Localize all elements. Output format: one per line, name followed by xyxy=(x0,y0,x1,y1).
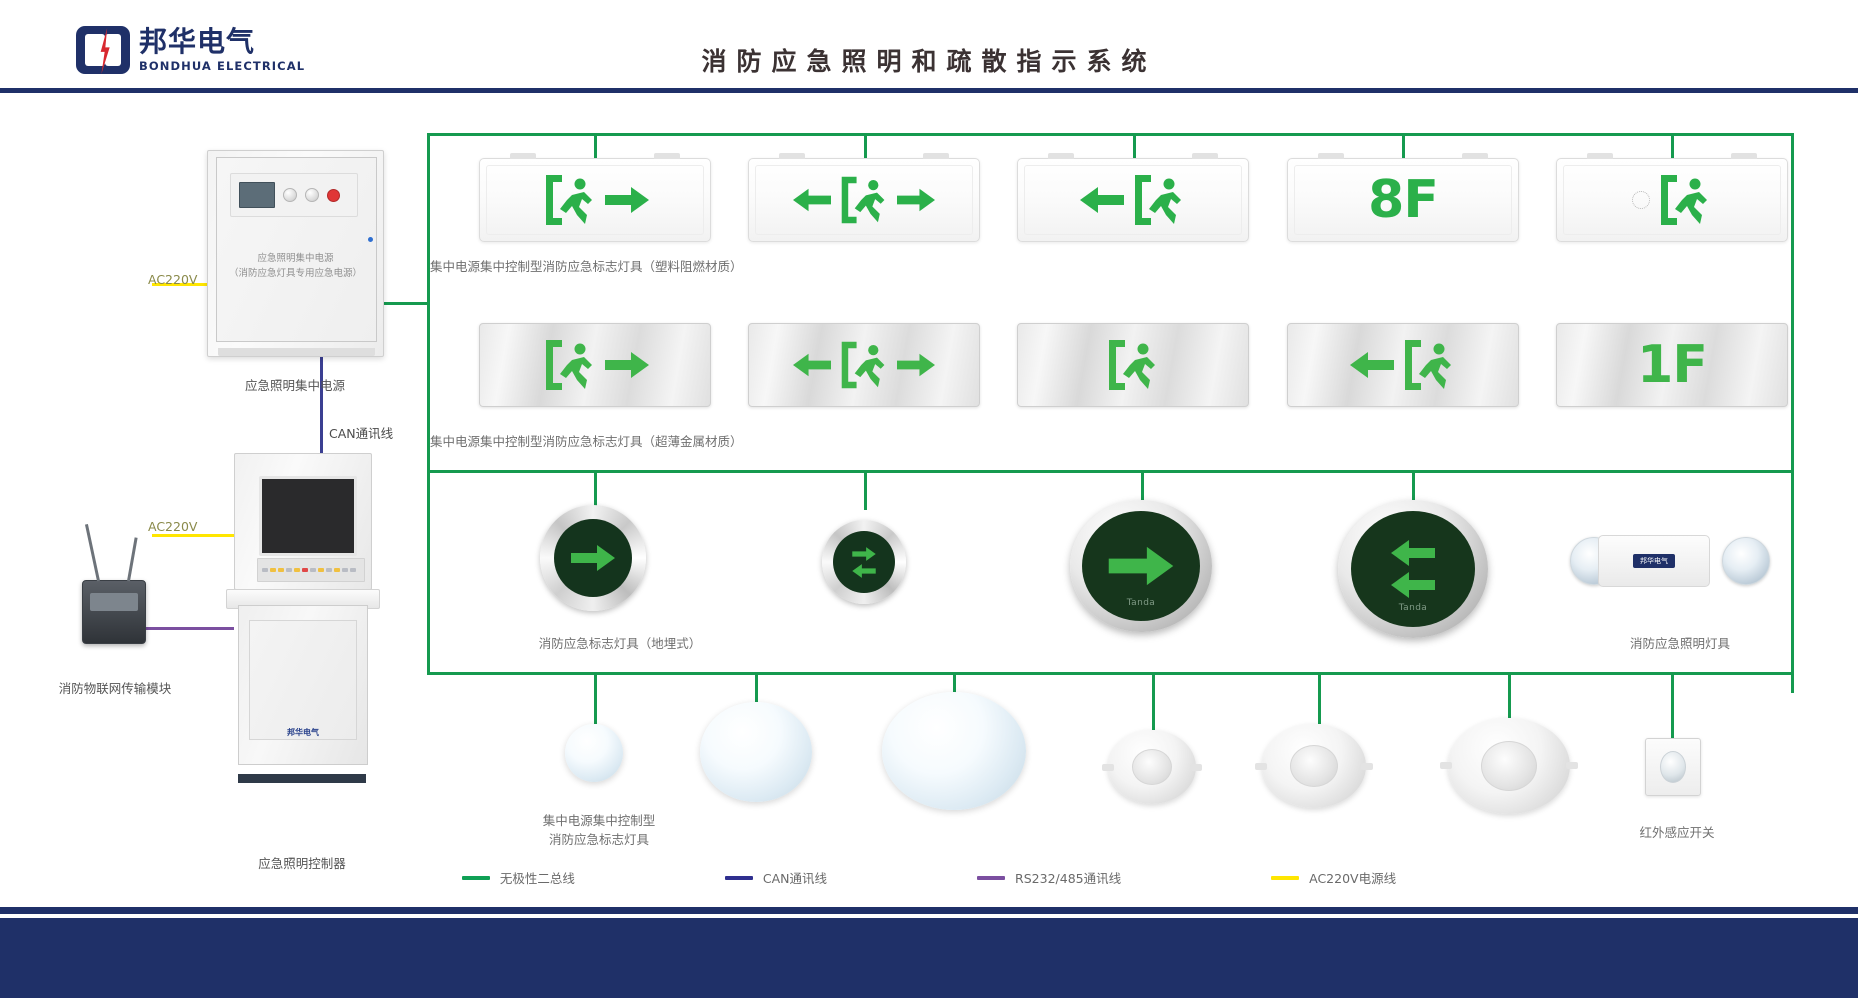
bus-wire-cabinet-out xyxy=(382,302,430,305)
arrow-right-icon xyxy=(569,543,617,573)
controller-screen xyxy=(259,476,357,556)
large-dome-lamp[interactable] xyxy=(882,692,1026,810)
header-divider xyxy=(0,88,1858,93)
legend-label-can: CAN通讯线 xyxy=(763,868,827,887)
legend-swatch-bus xyxy=(462,876,490,880)
bus-wire-riser-left3 xyxy=(427,470,430,674)
twin-head-emergency-light[interactable]: 邦华电气 xyxy=(1570,525,1770,597)
can-wire-label: CAN通讯线 xyxy=(329,423,393,442)
lamp-brand-label: Tanda xyxy=(1127,598,1155,608)
arrow-right-icon xyxy=(846,546,882,562)
bus-wire-row4 xyxy=(427,672,1794,675)
legend-label-rs: RS232/485通讯线 xyxy=(1015,868,1121,887)
legend-swatch-ac xyxy=(1271,876,1299,880)
controller-keypad[interactable] xyxy=(257,558,365,582)
drop-r4-1 xyxy=(594,672,597,724)
metal-exit-sign-both[interactable] xyxy=(748,323,980,407)
bus-wire-row3 xyxy=(427,470,1794,473)
metal-floor-indicator-1f[interactable]: 1F xyxy=(1556,323,1788,407)
legend-swatch-can xyxy=(725,876,753,880)
cabinet-face-text: 应急照明集中电源 （消防应急灯具专用应急电源） xyxy=(208,251,383,281)
running-man-icon xyxy=(1105,338,1161,392)
cabinet-status-dot xyxy=(368,237,373,242)
drop-r3-2 xyxy=(864,470,867,510)
arrow-right-icon xyxy=(1101,544,1181,588)
legend-label-bus: 无极性二总线 xyxy=(500,868,575,887)
drop-r1-5 xyxy=(1671,133,1674,158)
metal-exit-sign-left[interactable] xyxy=(1287,323,1519,407)
infrared-sensor-switch[interactable] xyxy=(1645,738,1701,796)
lamp-head-right xyxy=(1722,537,1770,585)
cabinet-knob-2[interactable] xyxy=(305,188,319,202)
drop-r3-4 xyxy=(1412,470,1415,500)
medium-dome-lamp[interactable] xyxy=(700,702,812,802)
exit-sign-left[interactable] xyxy=(1017,158,1249,242)
ac-wire-controller xyxy=(152,534,234,537)
can-wire xyxy=(320,355,323,453)
twin-light-brand-badge: 邦华电气 xyxy=(1633,554,1675,568)
legend-item-rs: RS232/485通讯线 xyxy=(977,868,1121,887)
bus-wire-row1 xyxy=(427,133,1794,136)
controller-brand-mini: 邦华电气 xyxy=(239,727,367,738)
fire-iot-transmission-module[interactable] xyxy=(82,580,146,644)
legend-item-ac: AC220V电源线 xyxy=(1271,868,1396,887)
exit-sign-both[interactable] xyxy=(748,158,980,242)
row4-caption-line1: 集中电源集中控制型 xyxy=(494,812,704,831)
legend-item-can: CAN通讯线 xyxy=(725,868,827,887)
bus-wire-riser-right xyxy=(1791,133,1794,693)
drop-r4-6 xyxy=(1508,672,1511,718)
floor-indicator-8f[interactable]: 8F xyxy=(1287,158,1519,242)
legend-item-bus: 无极性二总线 xyxy=(462,868,575,887)
footer-bar xyxy=(0,918,1858,998)
ground-lamp-double-arrow[interactable] xyxy=(822,520,906,604)
ground-lamp-right-arrow[interactable] xyxy=(540,505,646,611)
legend-swatch-rs xyxy=(977,876,1005,880)
cabinet-face-line1: 应急照明集中电源 xyxy=(208,251,383,266)
row3-caption: 消防应急标志灯具（地埋式） xyxy=(480,635,760,654)
page-header: 邦华电气 BONDHUA ELECTRICAL 消防应急照明和疏散指示系统 xyxy=(0,0,1858,92)
antenna-icon-2 xyxy=(127,537,138,581)
row3-right-caption: 消防应急照明灯具 xyxy=(1570,635,1790,654)
downlight-large[interactable] xyxy=(1448,718,1570,814)
downlight-small[interactable] xyxy=(1108,730,1196,804)
emergency-lighting-controller[interactable]: 邦华电气 xyxy=(226,453,378,783)
drop-r4-5 xyxy=(1318,672,1321,724)
arrow-left-icon xyxy=(846,563,882,579)
power-cabinet-caption: 应急照明集中电源 xyxy=(195,377,395,396)
ceiling-lamp-left-double[interactable]: Tanda xyxy=(1338,500,1488,638)
row1-caption: 集中电源集中控制型消防应急标志灯具（塑料阻燃材质） xyxy=(430,258,890,277)
arrow-right-icon xyxy=(605,350,649,380)
floor-number-label: 1F xyxy=(1637,335,1707,395)
cabinet-control-panel[interactable] xyxy=(230,173,358,217)
exit-sign-plain[interactable] xyxy=(1556,158,1788,242)
legend-label-ac: AC220V电源线 xyxy=(1309,868,1396,887)
drop-r4-4 xyxy=(1152,672,1155,730)
ac-label-controller: AC220V xyxy=(148,519,197,534)
arrow-left-icon-2 xyxy=(1375,570,1451,600)
row4-caption-line2: 消防应急标志灯具 xyxy=(494,831,704,850)
cabinet-face-line2: （消防应急灯具专用应急电源） xyxy=(208,266,383,281)
system-diagram-page: 邦华电气 BONDHUA ELECTRICAL 消防应急照明和疏散指示系统 AC… xyxy=(0,0,1858,998)
sensor-lens-icon xyxy=(1660,751,1686,783)
downlight-medium[interactable] xyxy=(1262,724,1366,808)
drop-r1-3 xyxy=(1133,133,1136,158)
drop-r1-1 xyxy=(594,133,597,158)
arrow-left-icon xyxy=(793,351,831,379)
bus-wire-riser-left2 xyxy=(427,133,430,473)
cabinet-display xyxy=(239,182,275,208)
row2-caption: 集中电源集中控制型消防应急标志灯具（超薄金属材质） xyxy=(430,433,890,452)
iot-module-caption: 消防物联网传输模块 xyxy=(25,680,205,699)
page-title: 消防应急照明和疏散指示系统 xyxy=(0,42,1858,78)
exit-sign-right[interactable] xyxy=(479,158,711,242)
drop-r1-4 xyxy=(1402,133,1405,158)
antenna-icon-1 xyxy=(85,524,100,581)
drop-r1-2 xyxy=(864,133,867,158)
ac-label-cabinet: AC220V xyxy=(148,272,197,287)
drop-r4-7 xyxy=(1671,672,1674,738)
drop-r3-1 xyxy=(594,470,597,510)
arrow-right-icon xyxy=(897,351,935,379)
arrow-left-icon xyxy=(1375,538,1451,568)
running-man-icon xyxy=(1401,338,1457,392)
ceiling-lamp-right-arrow[interactable]: Tanda xyxy=(1070,500,1212,632)
legend: 无极性二总线 CAN通讯线 RS232/485通讯线 AC220V电源线 xyxy=(0,868,1858,887)
metal-exit-sign-right[interactable] xyxy=(479,323,711,407)
cabinet-knob-1[interactable] xyxy=(283,188,297,202)
running-man-icon xyxy=(838,339,890,391)
running-man-icon xyxy=(542,338,598,392)
emergency-power-cabinet[interactable]: 应急照明集中电源 （消防应急灯具专用应急电源） xyxy=(207,150,384,357)
small-dome-lamp[interactable] xyxy=(565,724,623,782)
arrow-left-icon xyxy=(1350,350,1394,380)
lamp-brand-label: Tanda xyxy=(1399,603,1427,613)
cabinet-alarm-led xyxy=(327,189,340,202)
metal-exit-sign-plain[interactable] xyxy=(1017,323,1249,407)
drop-r4-3 xyxy=(953,672,956,694)
drop-r4-2 xyxy=(755,672,758,702)
footer-accent-bar xyxy=(0,907,1858,914)
row4-caption: 集中电源集中控制型 消防应急标志灯具 xyxy=(494,812,704,850)
drop-r3-3 xyxy=(1141,470,1144,500)
ir-switch-caption: 红外感应开关 xyxy=(1592,824,1762,843)
